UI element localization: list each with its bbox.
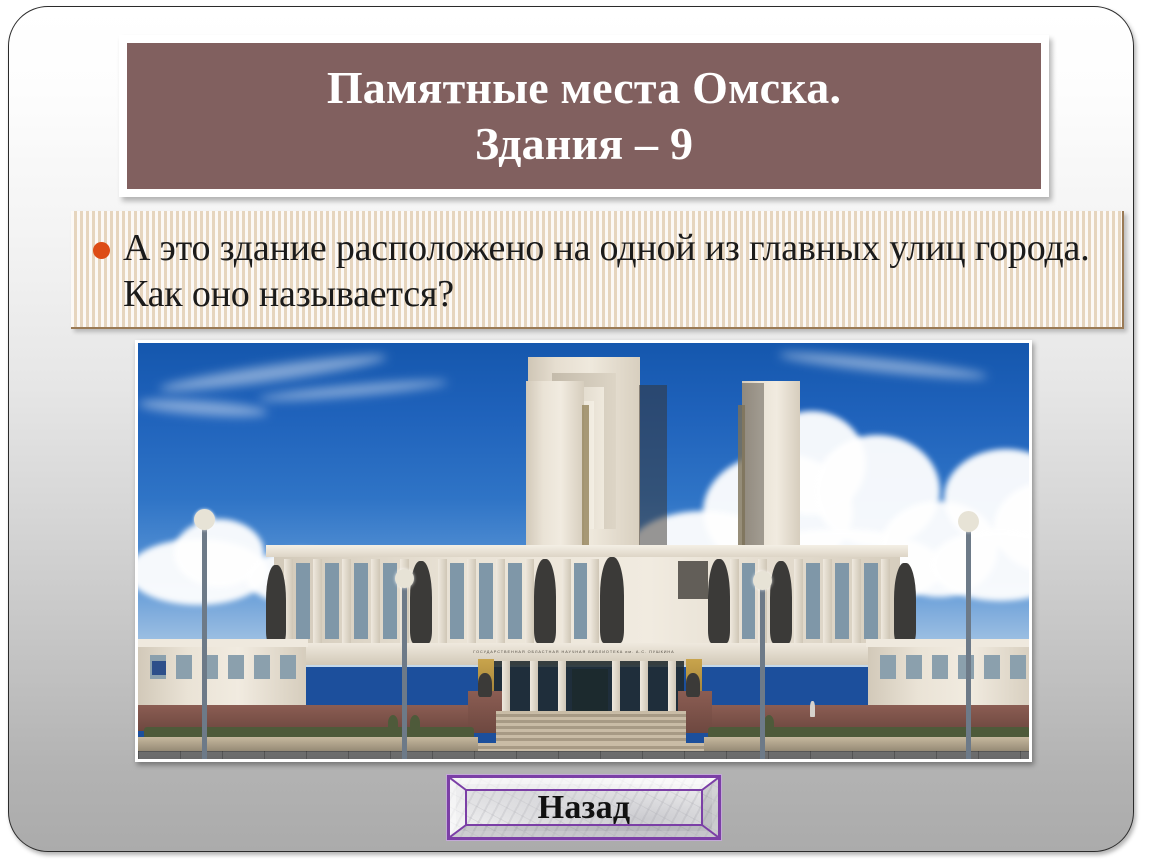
facade-recess (678, 561, 708, 599)
facade-pilaster (525, 559, 534, 643)
facade-pilaster (590, 559, 599, 643)
portico-column (668, 661, 676, 717)
wing-window (984, 655, 1000, 679)
facade-window (864, 563, 878, 639)
facade-window (450, 563, 464, 639)
facade-pilaster (794, 559, 803, 643)
building-inscription: ГОСУДАРСТВЕННАЯ ОБЛАСТНАЯ НАУЧНАЯ БИБЛИО… (473, 649, 674, 654)
portico-column (612, 661, 620, 717)
tower-wing-shadow (742, 383, 764, 553)
shrub (764, 715, 774, 731)
plinth-statue-left (478, 673, 492, 697)
facade-statue (600, 557, 624, 643)
lamp-globe (395, 569, 414, 588)
facade-statue (534, 559, 556, 643)
facade-window (574, 563, 587, 639)
facade-statue (410, 561, 432, 643)
page-title-line-2: Здания – 9 (475, 116, 693, 172)
facade-pilaster (371, 559, 380, 643)
pedestrian (810, 701, 815, 717)
slide-panel: Памятные места Омска. Здания – 9 А это з… (8, 6, 1134, 852)
title-fill: Памятные места Омска. Здания – 9 (127, 43, 1041, 189)
lamp-post (202, 521, 207, 759)
facade-window (354, 563, 368, 639)
portico-column (558, 661, 566, 717)
lamp-globe (958, 511, 979, 532)
wing-window (280, 655, 296, 679)
entrance-door (572, 669, 608, 717)
tower-wing-left (526, 381, 584, 553)
tower-window-strip (738, 405, 745, 545)
wing-window (228, 655, 244, 679)
facade-window (296, 563, 310, 639)
facade-pilaster (313, 559, 322, 643)
library-building-photo: ГОСУДАРСТВЕННАЯ ОБЛАСТНАЯ НАУЧНАЯ БИБЛИО… (138, 343, 1029, 759)
facade-window (325, 563, 339, 639)
back-button[interactable]: Назад (446, 774, 722, 841)
wing-window (906, 655, 922, 679)
page-title-line-1: Памятные места Омска. (327, 60, 841, 116)
wing-window (880, 655, 896, 679)
title-box: Памятные места Омска. Здания – 9 (119, 35, 1049, 197)
facade-pilaster (852, 559, 861, 643)
wing-window (932, 655, 948, 679)
plinth-statue-right (686, 673, 700, 697)
plaza-paving-grid (138, 751, 1029, 759)
question-text: А это здание расположено на одной из гла… (123, 225, 1106, 318)
wing-left-cornice (138, 639, 308, 647)
tower-shadow (639, 385, 667, 553)
facade-pilaster (342, 559, 351, 643)
facade-window (742, 563, 755, 639)
facade-window (835, 563, 849, 639)
facade-statue (708, 559, 730, 643)
facade-pilaster (823, 559, 832, 643)
wing-window (1010, 655, 1026, 679)
facade-statue (770, 561, 792, 643)
shrub (388, 715, 398, 731)
bullet-icon (93, 242, 110, 259)
wing-right-cornice (866, 639, 1029, 647)
facade-pilaster (496, 559, 505, 643)
lamp-post (402, 579, 407, 759)
plaza-pavement (138, 751, 1029, 759)
photo-frame: ГОСУДАРСТВЕННАЯ ОБЛАСТНАЯ НАУЧНАЯ БИБЛИО… (135, 340, 1032, 762)
facade-cornice (266, 545, 908, 557)
lamp-globe (194, 509, 215, 530)
lamp-globe (753, 571, 772, 590)
facade-statue (894, 563, 916, 643)
lamp-post (966, 523, 971, 759)
shrub (410, 715, 420, 731)
slide-root: Памятные места Омска. Здания – 9 А это з… (0, 0, 1150, 864)
lamp-post (760, 581, 765, 759)
facade-pilaster (438, 559, 447, 643)
facade-pilaster (881, 559, 890, 643)
question-box: А это здание расположено на одной из гла… (71, 211, 1124, 329)
facade-statue (266, 565, 286, 643)
facade-pilaster (562, 559, 571, 643)
back-button-label: Назад (538, 789, 631, 827)
tower-window-strip (582, 405, 589, 545)
sign-plaque (152, 661, 166, 675)
facade-pilaster (730, 559, 739, 643)
portico-column (502, 661, 510, 717)
portico-column (640, 661, 648, 717)
wing-window (176, 655, 192, 679)
wing-window (254, 655, 270, 679)
facade-window (508, 563, 522, 639)
portico-column (530, 661, 538, 717)
facade-window (479, 563, 493, 639)
facade-window (806, 563, 820, 639)
facade-pilaster (467, 559, 476, 643)
